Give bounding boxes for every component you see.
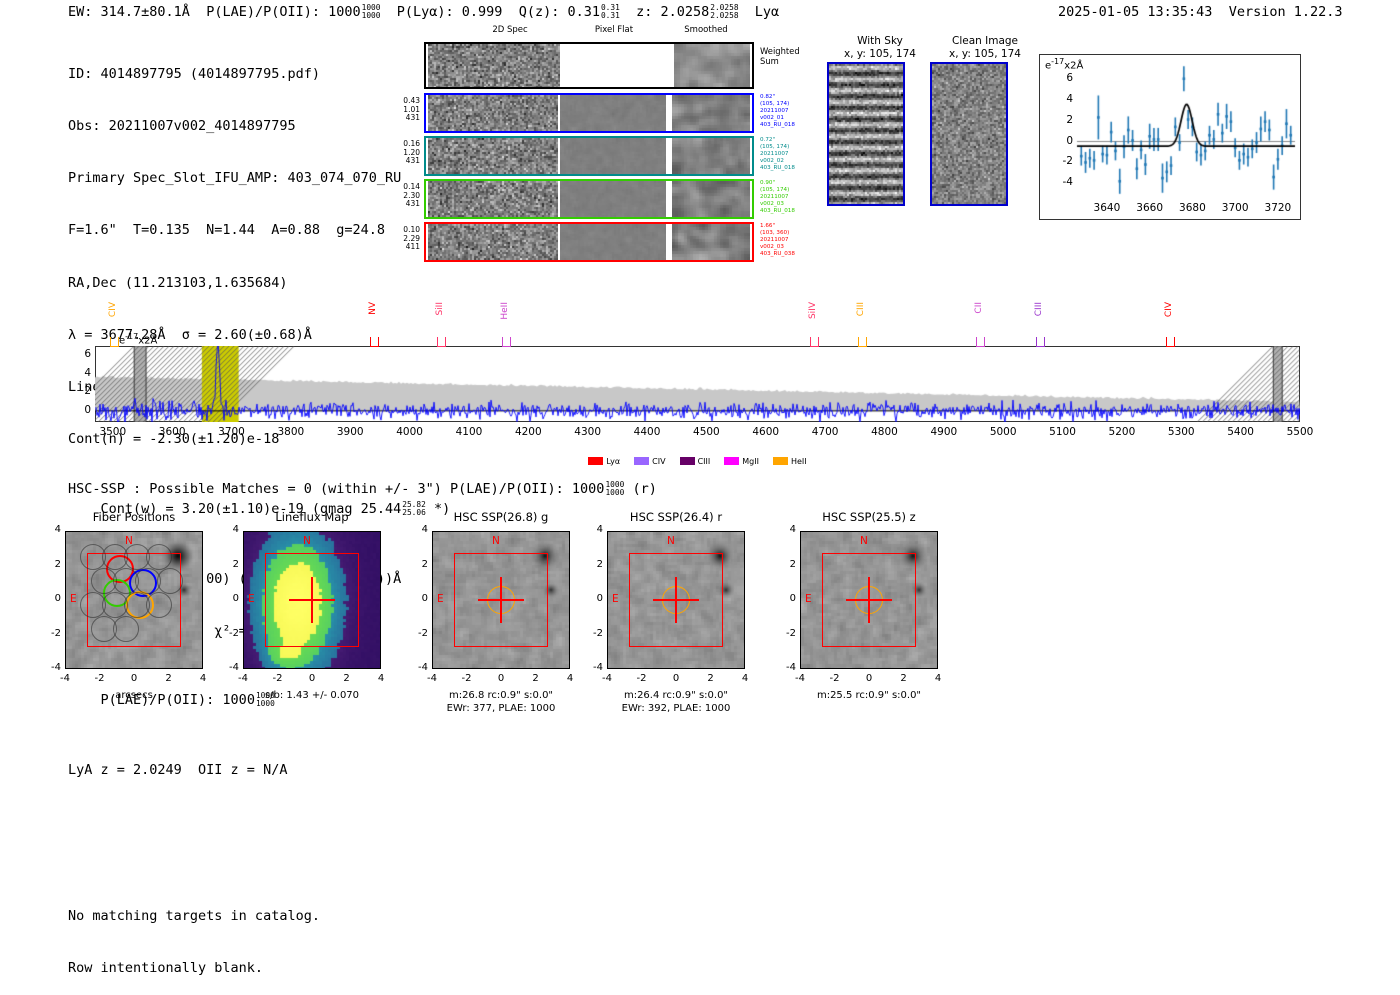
header-plya: P(Lyα): 0.999 — [397, 4, 503, 20]
header-qz: Q(z): 0.31 — [519, 4, 600, 20]
cutout-ytick-3-3: 2 — [581, 559, 603, 570]
spec2d-row-0 — [424, 93, 754, 133]
cutout-ytick-1-2: 0 — [217, 593, 239, 604]
cutout-xtick-1-1: -2 — [262, 673, 294, 684]
spectral-line-tick-8 — [1166, 337, 1175, 347]
header-timestamp-block: 2025-01-05 13:35:43 Version 1.22.3 — [1058, 4, 1343, 20]
crosshair-v-2 — [500, 577, 502, 623]
spec2d-row-1 — [424, 136, 754, 176]
cutout-xtick-3-3: 2 — [695, 673, 727, 684]
fullspec-xtick-0: 3500 — [87, 426, 139, 438]
fullspec-xtick-11: 4600 — [740, 426, 792, 438]
cutout-xtick-4-0: -4 — [784, 673, 816, 684]
fiber-grid-circle — [157, 568, 183, 594]
cutout-caption-line1-4: m:25.5 rc:0.9" s:0.0" — [766, 689, 972, 702]
legend-item-mgii: MgII — [724, 457, 759, 466]
fullspec-xtick-8: 4300 — [562, 426, 614, 438]
crosshair-v-3 — [675, 577, 677, 623]
cutout-ytick-0-1: -2 — [39, 628, 61, 639]
cutout-ytick-3-1: -2 — [581, 628, 603, 639]
header-z-bot: 2.0258 — [710, 11, 738, 20]
cutout-caption-line1-0: arcsecs — [31, 689, 237, 702]
cutout-xtick-3-0: -4 — [591, 673, 623, 684]
legend-item-heii: HeII — [773, 457, 807, 466]
legend-swatch-2 — [680, 457, 695, 465]
fullspec-xtick-5: 4000 — [384, 426, 436, 438]
compass-north-4: N — [860, 535, 868, 547]
crosshair-v-4 — [868, 577, 870, 623]
spectral-line-tick-0 — [110, 337, 119, 347]
fullspec-ytick-0: 0 — [69, 404, 91, 416]
cutout-xtick-2-1: -2 — [451, 673, 483, 684]
sky-panel-title-0: With Sky x, y: 105, 174 — [825, 35, 935, 60]
cutout-xtick-4-1: -2 — [819, 673, 851, 684]
cutout-caption-1: s/b: 1.43 +/- 0.070 — [209, 689, 415, 702]
legend-swatch-4 — [773, 457, 788, 465]
cutout-ytick-0-3: 2 — [39, 559, 61, 570]
cutout-xtick-4-2: 0 — [853, 673, 885, 684]
cutout-xtick-2-3: 2 — [520, 673, 552, 684]
cutout-caption-line1-3: m:26.4 rc:0.9" s:0.0" — [573, 689, 779, 702]
cutout-xtick-0-0: -4 — [49, 673, 81, 684]
crosshair-v-1 — [311, 577, 313, 623]
cutout-title-2: HSC SSP(26.8) g — [404, 510, 598, 524]
fullspec-xtick-12: 4700 — [799, 426, 851, 438]
fullspec-xtick-14: 4900 — [918, 426, 970, 438]
emission-ytick-3: 2 — [1047, 114, 1073, 126]
cutout-xtick-3-2: 0 — [660, 673, 692, 684]
cutout-ytick-3-4: 4 — [581, 524, 603, 535]
spectral-line-tick-4 — [810, 337, 819, 347]
fiber-grid-circle — [113, 616, 139, 642]
cutout-xtick-4-4: 4 — [922, 673, 954, 684]
emission-ytick-1: -2 — [1047, 155, 1073, 167]
spectral-line-label-cii-6: CII — [974, 302, 984, 314]
spec2d-weighted-sum-label: WeightedSum — [760, 46, 820, 66]
compass-east-0: E — [70, 593, 77, 605]
compass-north-3: N — [667, 535, 675, 547]
fullspec-xtick-19: 5400 — [1215, 426, 1267, 438]
fullspec-ytick-1: 2 — [69, 385, 91, 397]
cutout-ytick-1-0: -4 — [217, 662, 239, 673]
header-ew: EW: 314.7±80.1Å — [68, 4, 190, 20]
cutout-ytick-2-4: 4 — [406, 524, 428, 535]
header-plae-bot: 1000 — [362, 11, 381, 20]
spec2d-row-labels-2: 0.142.30431 — [390, 183, 420, 209]
fullspec-xtick-15: 5000 — [977, 426, 1029, 438]
cutout-xtick-1-0: -4 — [227, 673, 259, 684]
cutout-ytick-2-1: -2 — [406, 628, 428, 639]
compass-east-2: E — [437, 593, 444, 605]
spectral-line-label-ciii-5: CIII — [856, 302, 866, 316]
cutout-xtick-1-3: 2 — [331, 673, 363, 684]
legend-swatch-1 — [634, 457, 649, 465]
spec2d-title-pixelflat: Pixel Flat — [564, 25, 664, 35]
fullspec-xtick-10: 4500 — [680, 426, 732, 438]
cutout-title-0: Fiber Positions — [37, 510, 231, 524]
legend-item-lyα: Lyα — [588, 457, 620, 466]
sky-image-with-sky — [827, 62, 905, 206]
cutout-ytick-3-2: 0 — [581, 593, 603, 604]
spectral-line-tick-2 — [437, 337, 446, 347]
header-plae: P(LAE)/P(OII): 1000 — [206, 4, 360, 20]
info-line-radec: RA,Dec (11.213103,1.635684) — [68, 275, 450, 292]
cutout-title-1: Lineflux Map — [215, 510, 409, 524]
spectral-line-label-civ-8: CIV — [1164, 302, 1174, 317]
cutout-ytick-0-4: 4 — [39, 524, 61, 535]
spec2d-row-2 — [424, 179, 754, 219]
fiber-grid-circle — [146, 544, 172, 570]
timestamp: 2025-01-05 13:35:43 — [1058, 4, 1212, 20]
cutout-xtick-2-0: -4 — [416, 673, 448, 684]
spec2d-row-labels-3: 0.102.29411 — [390, 226, 420, 252]
header-qz-bot: 0.31 — [601, 11, 620, 20]
fullspec-xtick-3: 3800 — [265, 426, 317, 438]
fiber-grid-circle — [146, 592, 172, 618]
cutout-ytick-4-0: -4 — [774, 662, 796, 673]
version-label: Version 1.22.3 — [1229, 4, 1343, 20]
emission-xtick-1: 3660 — [1128, 202, 1172, 214]
fullspec-xtick-4: 3900 — [324, 426, 376, 438]
legend-label-2: CIII — [698, 457, 711, 466]
legend-label-1: CIV — [652, 457, 665, 466]
legend-label-4: HeII — [791, 457, 807, 466]
spec2d-panel: 2D Spec Pixel Flat Smoothed WeightedSum … — [424, 36, 754, 248]
footer-line-1: No matching targets in catalog. — [68, 908, 320, 925]
spectral-line-label-siiv-4: SiIV — [808, 302, 818, 319]
spectral-line-tick-5 — [858, 337, 867, 347]
cutout-xtick-1-2: 0 — [296, 673, 328, 684]
legend-item-civ: CIV — [634, 457, 665, 466]
cutout-ytick-2-3: 2 — [406, 559, 428, 570]
fullspec-xtick-18: 5300 — [1155, 426, 1207, 438]
cutout-ytick-1-3: 2 — [217, 559, 239, 570]
cutout-ytick-4-4: 4 — [774, 524, 796, 535]
emission-xtick-0: 3640 — [1085, 202, 1129, 214]
cutout-ytick-3-0: -4 — [581, 662, 603, 673]
fullspec-xtick-7: 4200 — [502, 426, 554, 438]
spectral-line-label-ciii-7: CIII — [1034, 302, 1044, 316]
cutout-xtick-0-3: 2 — [153, 673, 185, 684]
spectral-line-label-siii-2: SiII — [435, 302, 445, 316]
cutout-xtick-3-4: 4 — [729, 673, 761, 684]
compass-north-2: N — [492, 535, 500, 547]
fullspec-units-label: e-17x2Å — [119, 332, 157, 346]
cutout-caption-3: m:26.4 rc:0.9" s:0.0"EWr: 392, PLAE: 100… — [573, 689, 779, 715]
cutout-caption-line2-3: EWr: 392, PLAE: 1000 — [573, 702, 779, 715]
fullspec-xtick-9: 4400 — [621, 426, 673, 438]
cutout-caption-0: arcsecs — [31, 689, 237, 702]
emission-xtick-3: 3700 — [1213, 202, 1257, 214]
spec2d-title-2dspec: 2D Spec — [460, 25, 560, 35]
footer-line-2: Row intentionally blank. — [68, 960, 320, 977]
cutout-title-3: HSC SSP(26.4) r — [579, 510, 773, 524]
cutout-ytick-4-2: 0 — [774, 593, 796, 604]
cutout-xtick-1-4: 4 — [365, 673, 397, 684]
spectral-line-label-civ-0: CIV — [108, 302, 118, 317]
fullspec-xtick-2: 3700 — [206, 426, 258, 438]
footer-note: No matching targets in catalog. Row inte… — [68, 873, 320, 995]
cutout-xtick-2-2: 0 — [485, 673, 517, 684]
fullspec-ytick-2: 4 — [69, 367, 91, 379]
fullspec-xtick-6: 4100 — [443, 426, 495, 438]
emission-ytick-2: 0 — [1047, 135, 1073, 147]
spectral-line-label-nv-1: NV — [368, 302, 378, 315]
cutout-xtick-0-4: 4 — [187, 673, 219, 684]
legend-label-3: MgII — [742, 457, 759, 466]
cutout-ytick-2-0: -4 — [406, 662, 428, 673]
spectral-line-tick-1 — [370, 337, 379, 347]
legend-item-ciii: CIII — [680, 457, 711, 466]
spec2d-row-labels-0: 0.431.01431 — [390, 97, 420, 123]
spectral-line-tick-6 — [976, 337, 985, 347]
spec2d-row-3 — [424, 222, 754, 262]
cutout-ytick-1-4: 4 — [217, 524, 239, 535]
emission-ytick-4: 4 — [1047, 93, 1073, 105]
emission-ytick-5: 6 — [1047, 72, 1073, 84]
cutout-xtick-0-1: -2 — [84, 673, 116, 684]
spec2d-row-meta-3: 1.66"(103, 360)20211007v002_03403_RU_038 — [760, 223, 824, 258]
compass-east-3: E — [612, 593, 619, 605]
sky-panel-title-1: Clean Image x, y: 105, 174 — [925, 35, 1045, 60]
cutout-ytick-2-2: 0 — [406, 593, 428, 604]
hsc-ssp-header: HSC-SSP : Possible Matches = 0 (within +… — [68, 481, 657, 497]
fullspec-xtick-20: 5500 — [1274, 426, 1326, 438]
spectral-line-label-heii-3: HeII — [500, 302, 510, 320]
cutout-ytick-1-1: -2 — [217, 628, 239, 639]
cutout-title-4: HSC SSP(25.5) z — [772, 510, 966, 524]
emission-ytick-0: -4 — [1047, 176, 1073, 188]
fullspec-xtick-17: 5200 — [1096, 426, 1148, 438]
cutout-xtick-4-3: 2 — [888, 673, 920, 684]
compass-east-4: E — [805, 593, 812, 605]
cutout-ytick-0-2: 0 — [39, 593, 61, 604]
spec2d-row-meta-2: 0.90"(105, 174)20211007v002_03403_RU_018 — [760, 180, 824, 215]
spectral-line-tick-7 — [1036, 337, 1045, 347]
fullspec-xtick-16: 5100 — [1037, 426, 1089, 438]
header-class: Lyα — [755, 4, 779, 20]
compass-east-1: E — [248, 593, 255, 605]
fullspec-xtick-1: 3600 — [146, 426, 198, 438]
cutout-caption-4: m:25.5 rc:0.9" s:0.0" — [766, 689, 972, 702]
full-spectrum-plot: e-17x2Å 0246 350036003700380039004000410… — [95, 346, 1300, 422]
spectral-line-tick-3 — [502, 337, 511, 347]
emission-xtick-4: 3720 — [1256, 202, 1300, 214]
spec2d-title-smoothed: Smoothed — [656, 25, 756, 35]
emission-line-plot: e-17x2Å -4-20246 36403660368037003720 — [1039, 54, 1301, 220]
legend-label-0: Lyα — [606, 457, 620, 466]
emission-units-label: e-17x2Å — [1045, 57, 1083, 71]
cutout-ytick-0-0: -4 — [39, 662, 61, 673]
sky-image-clean — [930, 62, 1008, 206]
legend-swatch-3 — [724, 457, 739, 465]
spec2d-row-labels-1: 0.161.20431 — [390, 140, 420, 166]
legend-swatch-0 — [588, 457, 603, 465]
emission-xtick-2: 3680 — [1170, 202, 1214, 214]
spec2d-row-meta-1: 0.72"(105, 174)20211007v002_02403_RU_018 — [760, 137, 824, 172]
fullspec-legend: LyαCIVCIIIMgIIHeII — [95, 450, 1300, 469]
fullspec-xtick-13: 4800 — [858, 426, 910, 438]
info-line-id: ID: 4014897795 (4014897795.pdf) — [68, 66, 450, 83]
spec2d-weighted-sum-row — [424, 42, 754, 89]
cutout-xtick-2-4: 4 — [554, 673, 586, 684]
cutout-ytick-4-3: 2 — [774, 559, 796, 570]
cutout-xtick-3-1: -2 — [626, 673, 658, 684]
info-line-redshifts: LyA z = 2.0249 OII z = N/A — [68, 762, 450, 779]
header-z: z: 2.0258 — [636, 4, 709, 20]
header-summary: EW: 314.7±80.1Å P(LAE)/P(OII): 100010001… — [68, 4, 779, 20]
cutout-caption-line1-1: s/b: 1.43 +/- 0.070 — [209, 689, 415, 702]
spec2d-row-meta-0: 0.82"(105, 174)20211007v002_01403_RU_018 — [760, 94, 824, 129]
cutout-xtick-0-2: 0 — [118, 673, 150, 684]
compass-north-1: N — [303, 535, 311, 547]
cutout-ytick-4-1: -2 — [774, 628, 796, 639]
fullspec-ytick-3: 6 — [69, 348, 91, 360]
